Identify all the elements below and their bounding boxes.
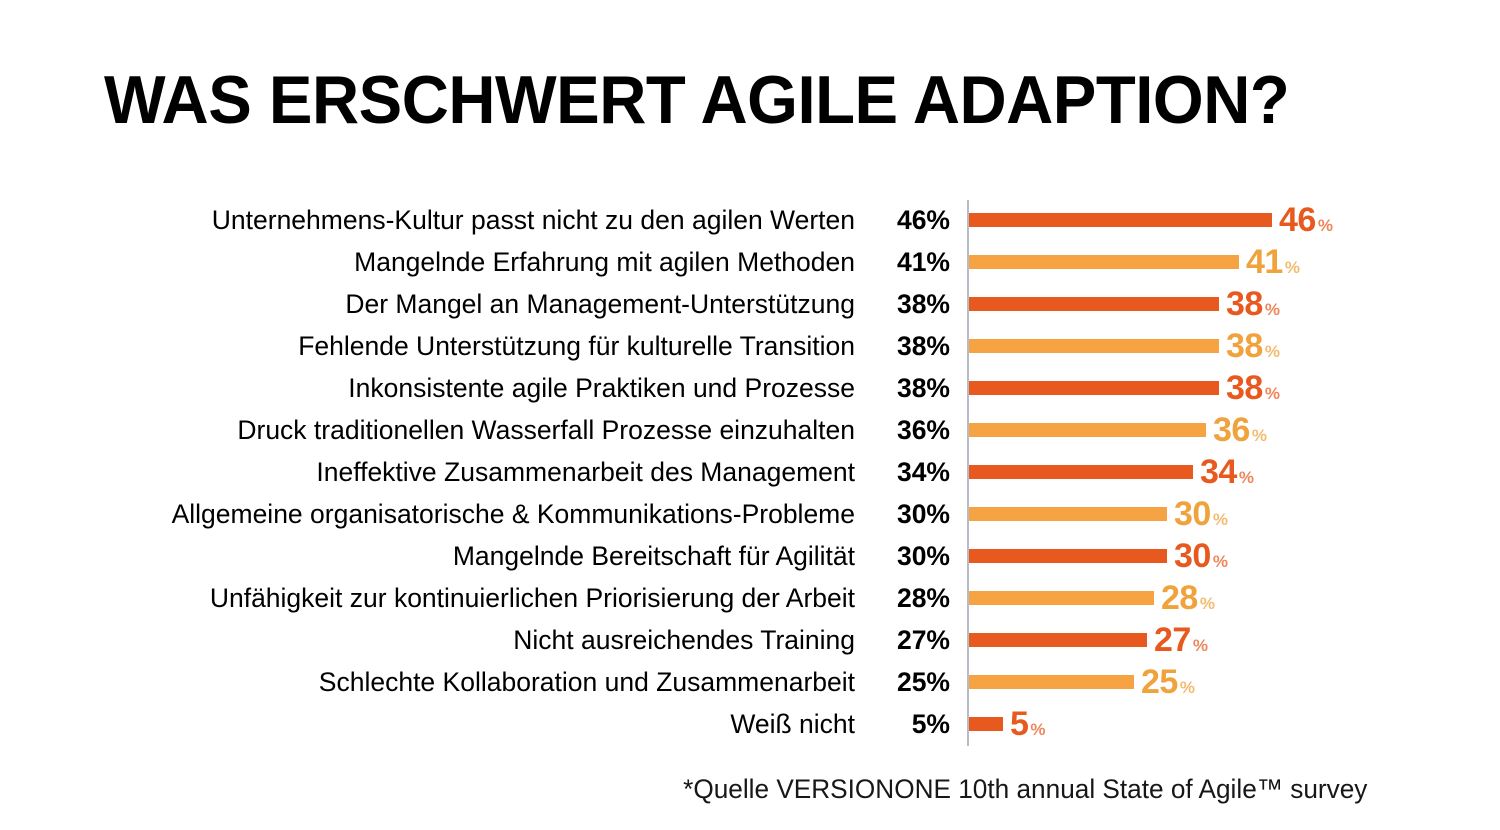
bar-value-label: 38% xyxy=(1226,287,1279,321)
bar-value-number: 38 xyxy=(1226,329,1263,363)
category-label: Der Mangel an Management-Unterstützung xyxy=(345,291,855,318)
bar-value-number: 34 xyxy=(1200,455,1237,489)
category-label: Weiß nicht xyxy=(730,711,855,738)
category-percent-text: 5% xyxy=(862,711,950,738)
bar-wrapper: 38% xyxy=(969,373,1279,403)
bar-row: Mangelnde Bereitschaft für Agilität30%30… xyxy=(0,535,1500,577)
category-label: Ineffektive Zusammenarbeit des Managemen… xyxy=(316,459,855,486)
bar-row: Mangelnde Erfahrung mit agilen Methoden4… xyxy=(0,241,1500,283)
bar xyxy=(969,591,1154,605)
bar-wrapper: 38% xyxy=(969,331,1279,361)
bar-value-number: 46 xyxy=(1279,203,1316,237)
category-percent-text: 38% xyxy=(862,291,950,318)
category-label: Unfähigkeit zur kontinuierlichen Prioris… xyxy=(210,585,855,612)
category-label: Nicht ausreichendes Training xyxy=(513,627,855,654)
bar-value-number: 38 xyxy=(1226,371,1263,405)
bar xyxy=(969,717,1003,731)
bar-value-percent-sign: % xyxy=(1180,679,1195,696)
category-label: Unternehmens-Kultur passt nicht zu den a… xyxy=(212,207,855,234)
bar-value-percent-sign: % xyxy=(1265,385,1280,402)
bar-value-percent-sign: % xyxy=(1239,469,1254,486)
bar xyxy=(969,549,1167,563)
bar-value-percent-sign: % xyxy=(1318,217,1333,234)
category-percent-text: 34% xyxy=(862,459,950,486)
bar-value-percent-sign: % xyxy=(1285,259,1300,276)
bar xyxy=(969,297,1219,311)
bar-row: Ineffektive Zusammenarbeit des Managemen… xyxy=(0,451,1500,493)
bar-row: Fehlende Unterstützung für kulturelle Tr… xyxy=(0,325,1500,367)
category-percent-text: 30% xyxy=(862,501,950,528)
bar-value-label: 25% xyxy=(1141,665,1194,699)
category-percent-text: 30% xyxy=(862,543,950,570)
category-percent-text: 28% xyxy=(862,585,950,612)
category-percent-text: 41% xyxy=(862,249,950,276)
category-label: Druck traditionellen Wasserfall Prozesse… xyxy=(237,417,855,444)
bar-wrapper: 30% xyxy=(969,499,1227,529)
bar-chart: Unternehmens-Kultur passt nicht zu den a… xyxy=(0,199,1500,749)
bar-value-percent-sign: % xyxy=(1265,343,1280,360)
bar-rows: Unternehmens-Kultur passt nicht zu den a… xyxy=(0,199,1500,745)
bar-value-label: 30% xyxy=(1174,497,1227,531)
category-percent-text: 46% xyxy=(862,207,950,234)
bar-row: Der Mangel an Management-Unterstützung38… xyxy=(0,283,1500,325)
bar-value-percent-sign: % xyxy=(1252,427,1267,444)
bar xyxy=(969,675,1134,689)
bar xyxy=(969,339,1219,353)
bar-value-label: 34% xyxy=(1200,455,1253,489)
bar-value-percent-sign: % xyxy=(1213,553,1228,570)
bar-value-label: 27% xyxy=(1154,623,1207,657)
bar-wrapper: 28% xyxy=(969,583,1214,613)
bar-value-percent-sign: % xyxy=(1213,511,1228,528)
bar-value-number: 36 xyxy=(1213,413,1250,447)
category-label: Fehlende Unterstützung für kulturelle Tr… xyxy=(298,333,855,360)
bar-wrapper: 30% xyxy=(969,541,1227,571)
category-label: Mangelnde Bereitschaft für Agilität xyxy=(453,543,855,570)
bar-value-number: 30 xyxy=(1174,497,1211,531)
bar-value-label: 41% xyxy=(1246,245,1299,279)
bar-value-label: 46% xyxy=(1279,203,1332,237)
bar xyxy=(969,465,1193,479)
bar-wrapper: 36% xyxy=(969,415,1266,445)
bar-value-number: 25 xyxy=(1141,665,1178,699)
bar-row: Weiß nicht5%5% xyxy=(0,703,1500,745)
bar-row: Schlechte Kollaboration und Zusammenarbe… xyxy=(0,661,1500,703)
bar-value-number: 27 xyxy=(1154,623,1191,657)
bar-row: Inkonsistente agile Praktiken und Prozes… xyxy=(0,367,1500,409)
bar-wrapper: 38% xyxy=(969,289,1279,319)
page-title: WAS ERSCHWERT AGILE ADAPTION? xyxy=(104,66,1289,134)
bar-wrapper: 5% xyxy=(969,709,1045,739)
bar-value-label: 30% xyxy=(1174,539,1227,573)
bar-value-label: 5% xyxy=(1010,707,1045,741)
bar-wrapper: 46% xyxy=(969,205,1332,235)
bar-row: Unfähigkeit zur kontinuierlichen Prioris… xyxy=(0,577,1500,619)
source-footnote: *Quelle VERSIONONE 10th annual State of … xyxy=(683,776,1367,803)
bar-value-number: 38 xyxy=(1226,287,1263,321)
bar-value-percent-sign: % xyxy=(1193,637,1208,654)
bar xyxy=(969,255,1239,269)
bar-value-percent-sign: % xyxy=(1265,301,1280,318)
bar-value-label: 28% xyxy=(1161,581,1214,615)
slide-root: WAS ERSCHWERT AGILE ADAPTION? Unternehme… xyxy=(0,0,1500,830)
bar-value-percent-sign: % xyxy=(1030,721,1045,738)
bar-wrapper: 25% xyxy=(969,667,1194,697)
bar-wrapper: 41% xyxy=(969,247,1299,277)
category-percent-text: 38% xyxy=(862,333,950,360)
category-label: Schlechte Kollaboration und Zusammenarbe… xyxy=(319,669,855,696)
bar xyxy=(969,507,1167,521)
bar-row: Unternehmens-Kultur passt nicht zu den a… xyxy=(0,199,1500,241)
bar-value-number: 41 xyxy=(1246,245,1283,279)
category-percent-text: 36% xyxy=(862,417,950,444)
bar-row: Allgemeine organisatorische & Kommunikat… xyxy=(0,493,1500,535)
category-percent-text: 27% xyxy=(862,627,950,654)
bar-row: Nicht ausreichendes Training27%27% xyxy=(0,619,1500,661)
bar xyxy=(969,213,1272,227)
category-percent-text: 25% xyxy=(862,669,950,696)
bar-value-label: 36% xyxy=(1213,413,1266,447)
bar xyxy=(969,423,1206,437)
bar-value-label: 38% xyxy=(1226,371,1279,405)
bar-wrapper: 34% xyxy=(969,457,1253,487)
bar-value-label: 38% xyxy=(1226,329,1279,363)
category-label: Mangelnde Erfahrung mit agilen Methoden xyxy=(354,249,855,276)
category-percent-text: 38% xyxy=(862,375,950,402)
bar-wrapper: 27% xyxy=(969,625,1207,655)
category-label: Inkonsistente agile Praktiken und Prozes… xyxy=(348,375,855,402)
bar-value-number: 28 xyxy=(1161,581,1198,615)
bar xyxy=(969,633,1147,647)
bar-value-number: 30 xyxy=(1174,539,1211,573)
bar-value-percent-sign: % xyxy=(1200,595,1215,612)
bar-value-number: 5 xyxy=(1010,707,1028,741)
category-label: Allgemeine organisatorische & Kommunikat… xyxy=(172,501,855,528)
bar xyxy=(969,381,1219,395)
bar-row: Druck traditionellen Wasserfall Prozesse… xyxy=(0,409,1500,451)
